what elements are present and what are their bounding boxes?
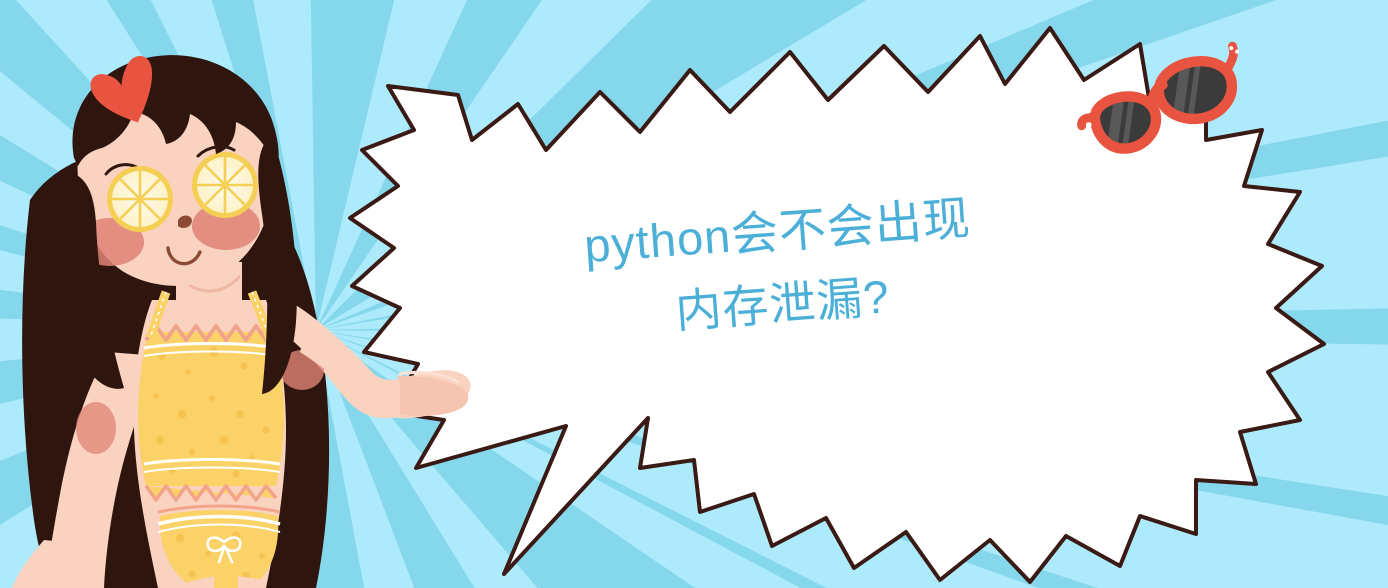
left-elbow-blush bbox=[76, 402, 116, 454]
foreground-artwork bbox=[0, 0, 1388, 588]
lemon-slice-left-eye bbox=[107, 166, 173, 232]
lemon-slice-right-eye bbox=[192, 152, 258, 218]
poster-canvas: python会不会出现 内存泄漏? bbox=[0, 0, 1388, 588]
